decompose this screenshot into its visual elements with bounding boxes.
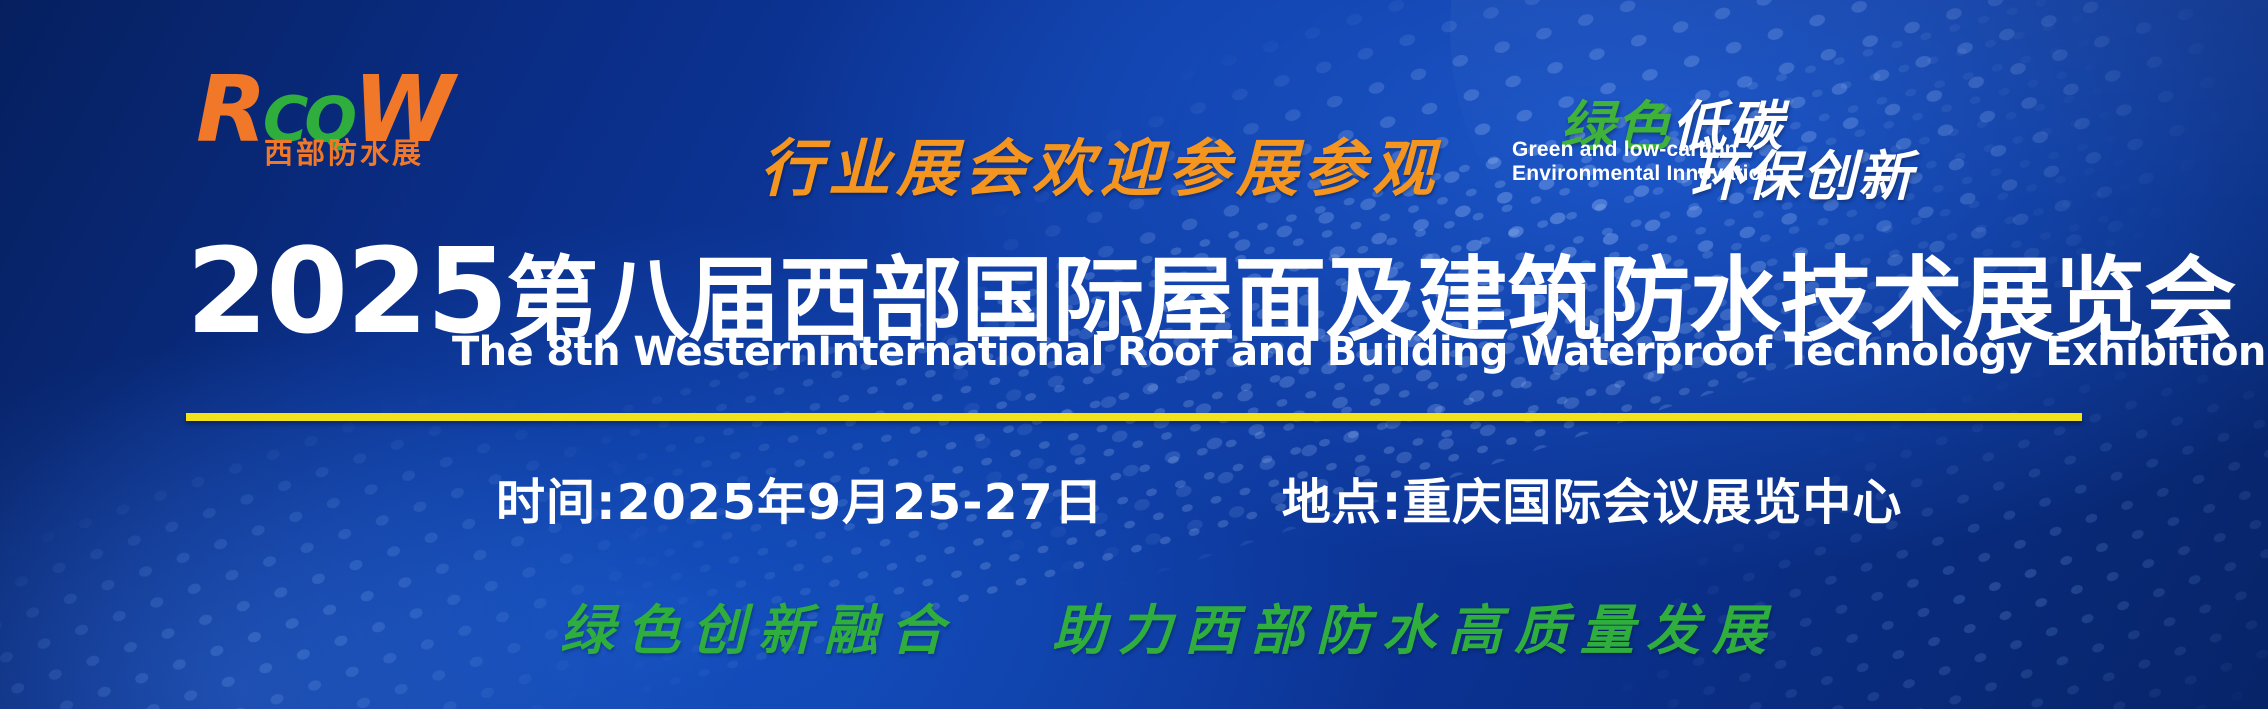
exhibition-banner: RCQW 西部防水展 行业展会欢迎参展参观 绿色低碳 环保创新 Green an… xyxy=(0,0,2268,709)
eco-english-line1: Green and low-carbon xyxy=(1512,138,1775,162)
eco-slogan-block: 绿色低碳 环保创新 Green and low-carbon Environme… xyxy=(1560,82,2040,192)
eco-english-subtitle: Green and low-carbon Environmental Innov… xyxy=(1512,138,1775,185)
eco-innovation-text: 创新 xyxy=(1802,144,1914,208)
bottom-slogan: 绿色创新融合 助力西部防水高质量发展 xyxy=(560,586,1778,665)
divider xyxy=(186,413,2082,421)
eco-english-line2: Environmental Innovation xyxy=(1512,162,1775,186)
welcome-slogan: 行业展会欢迎参展参观 xyxy=(760,118,1440,208)
event-venue: 地点:重庆国际会议展览中心 xyxy=(1282,478,1903,527)
logo-subtitle: 西部防水展 xyxy=(264,130,424,172)
rcqw-logo[interactable]: RCQW 西部防水展 xyxy=(196,64,486,170)
event-date: 时间:2025年9月25-27日 xyxy=(496,478,1104,527)
bottom-slogan-part1: 绿色创新融合 xyxy=(560,586,956,665)
logo-letter-r: R xyxy=(196,56,263,163)
event-info: 时间:2025年9月25-27日 地点:重庆国际会议展览中心 xyxy=(496,478,1902,527)
bottom-slogan-part2: 助力西部防水高质量发展 xyxy=(1052,586,1778,665)
title-english: The 8th WesternInternational Roof and Bu… xyxy=(452,332,2266,372)
